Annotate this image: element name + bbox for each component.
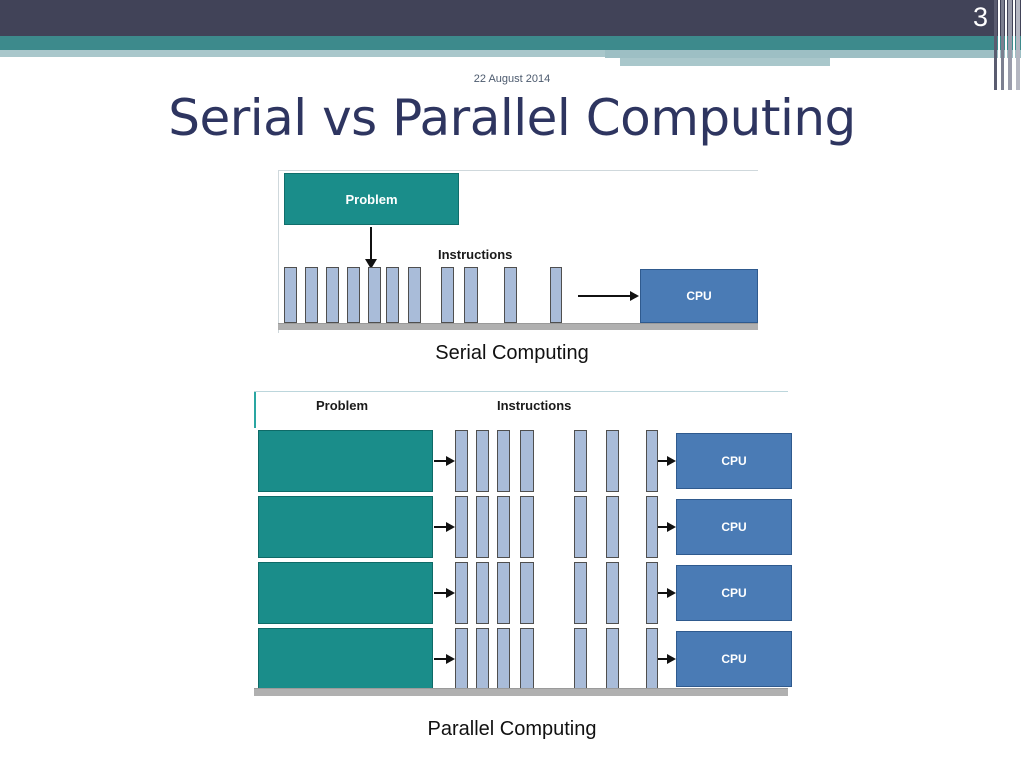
header-step-band-2 <box>605 50 1024 58</box>
parallel-instruction-bar <box>476 430 489 492</box>
serial-diagram-left-rule <box>278 171 279 333</box>
serial-problem-label: Problem <box>345 192 397 207</box>
serial-caption: Serial Computing <box>0 342 1024 365</box>
parallel-instruction-bar <box>606 628 619 690</box>
parallel-caption: Parallel Computing <box>0 718 1024 741</box>
parallel-problem-arrow-head <box>446 456 455 466</box>
serial-cpu-box: CPU <box>640 269 758 323</box>
parallel-instruction-bar <box>646 430 658 492</box>
parallel-instruction-bar <box>646 628 658 690</box>
parallel-cpu-arrow-head <box>667 456 676 466</box>
slide-date: 22 August 2014 <box>0 73 1024 85</box>
parallel-cpu-box: CPU <box>676 499 792 555</box>
serial-instruction-bar <box>305 267 318 323</box>
serial-instruction-bar <box>347 267 360 323</box>
parallel-instruction-bar <box>497 496 510 558</box>
header-dark-band <box>0 0 1024 36</box>
parallel-instruction-bar <box>520 628 534 690</box>
parallel-problem-arrow-head <box>446 588 455 598</box>
serial-instruction-bar <box>386 267 399 323</box>
parallel-problem-arrow-head <box>446 654 455 664</box>
header-step-band-1 <box>605 36 1024 50</box>
parallel-instruction-bar <box>497 628 510 690</box>
parallel-diagram-left-rule <box>254 392 256 428</box>
parallel-row: CPU <box>254 628 788 690</box>
parallel-problem-header-label: Problem <box>316 398 368 413</box>
serial-instruction-bar <box>284 267 297 323</box>
header-step-gap-3 <box>620 66 1024 70</box>
parallel-cpu-box: CPU <box>676 631 792 687</box>
serial-computing-diagram: Problem Instructions CPU <box>278 170 758 333</box>
parallel-row: CPU <box>254 430 788 492</box>
parallel-instruction-bar <box>646 496 658 558</box>
parallel-instruction-bar <box>476 496 489 558</box>
serial-instructions-label: Instructions <box>438 247 512 262</box>
parallel-instruction-bar <box>574 430 587 492</box>
parallel-instruction-bar <box>574 496 587 558</box>
parallel-problem-block <box>258 628 433 690</box>
parallel-cpu-label: CPU <box>721 652 746 666</box>
parallel-problem-block <box>258 562 433 624</box>
parallel-baseline <box>254 688 788 696</box>
parallel-instruction-bar <box>497 562 510 624</box>
parallel-instructions-header-label: Instructions <box>497 398 571 413</box>
parallel-cpu-box: CPU <box>676 433 792 489</box>
parallel-instruction-bar <box>606 430 619 492</box>
serial-cpu-arrow-head <box>630 291 639 301</box>
serial-instruction-bar <box>326 267 339 323</box>
serial-problem-box: Problem <box>284 173 459 225</box>
parallel-row: CPU <box>254 496 788 558</box>
parallel-instruction-bar <box>520 430 534 492</box>
parallel-instruction-bar <box>476 562 489 624</box>
parallel-instruction-bar <box>646 562 658 624</box>
parallel-instruction-bar <box>606 496 619 558</box>
parallel-instruction-bar <box>476 628 489 690</box>
serial-instruction-bar <box>504 267 517 323</box>
parallel-cpu-label: CPU <box>721 520 746 534</box>
page-title: Serial vs Parallel Computing <box>0 88 1024 148</box>
parallel-cpu-label: CPU <box>721 454 746 468</box>
serial-instruction-bar <box>408 267 421 323</box>
parallel-computing-diagram: Problem Instructions CPUCPUCPUCPU <box>254 391 788 696</box>
serial-cpu-arrow-shaft <box>578 295 632 297</box>
parallel-instruction-bar <box>520 562 534 624</box>
parallel-instruction-bar <box>574 628 587 690</box>
serial-down-arrow-shaft <box>370 227 372 261</box>
serial-instruction-bar <box>368 267 381 323</box>
parallel-problem-arrow-head <box>446 522 455 532</box>
serial-cpu-label: CPU <box>686 289 711 303</box>
parallel-instruction-bar <box>455 562 468 624</box>
parallel-row: CPU <box>254 562 788 624</box>
parallel-instruction-bar <box>606 562 619 624</box>
serial-baseline <box>278 323 758 330</box>
parallel-problem-block <box>258 496 433 558</box>
parallel-instruction-bar <box>455 496 468 558</box>
parallel-instruction-bar <box>497 430 510 492</box>
parallel-cpu-box: CPU <box>676 565 792 621</box>
parallel-instruction-bar <box>520 496 534 558</box>
parallel-instruction-bar <box>574 562 587 624</box>
parallel-cpu-arrow-head <box>667 588 676 598</box>
parallel-cpu-arrow-head <box>667 522 676 532</box>
parallel-instruction-bar <box>455 628 468 690</box>
parallel-cpu-arrow-head <box>667 654 676 664</box>
parallel-problem-block <box>258 430 433 492</box>
slide-number: 3 <box>973 2 988 32</box>
parallel-instruction-bar <box>455 430 468 492</box>
parallel-cpu-label: CPU <box>721 586 746 600</box>
serial-instruction-bar <box>441 267 454 323</box>
serial-instruction-bar <box>550 267 562 323</box>
serial-instruction-bar <box>464 267 478 323</box>
slide-canvas: 3 22 August 2014 Serial vs Parallel Comp… <box>0 0 1024 768</box>
